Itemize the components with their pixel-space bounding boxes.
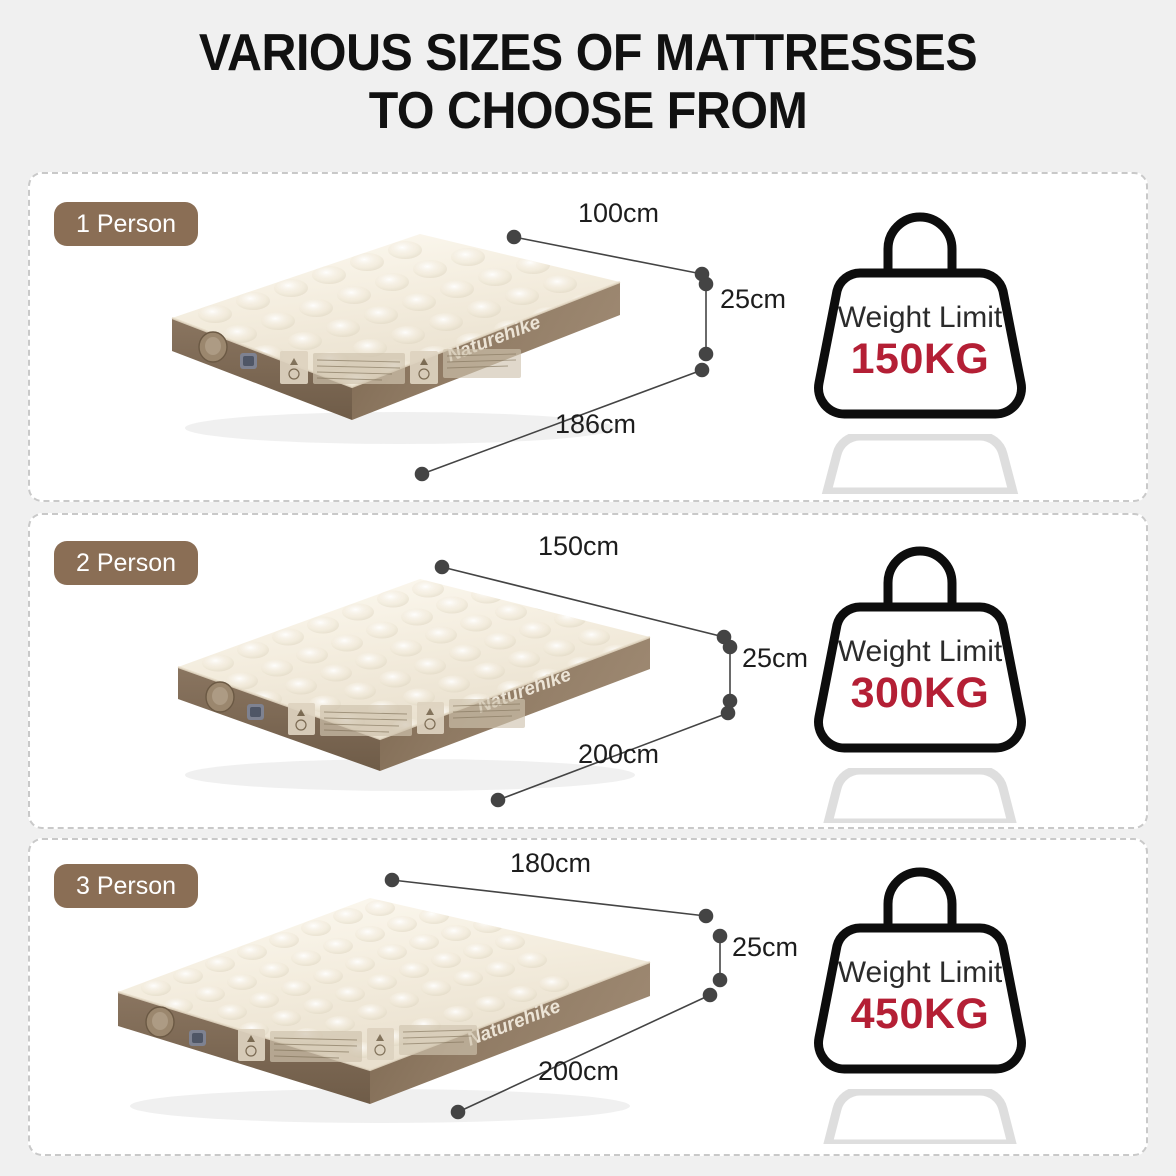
weight-bag-reflection: [800, 1089, 1040, 1144]
dimension-width-2: 150cm: [538, 531, 619, 562]
dimension-height-2: 25cm: [742, 643, 808, 674]
valve-nozzle-icon: [240, 353, 257, 369]
dimension-length-1: 186cm: [555, 409, 636, 440]
dimension-marker-icon: [700, 348, 713, 361]
dimension-height-3: 25cm: [732, 932, 798, 963]
weight-bag-reflection: [800, 434, 1040, 494]
dimension-marker-icon: [718, 631, 731, 644]
weight-limit-3: Weight Limit 450KG: [800, 864, 1040, 1144]
dimension-width-3: 180cm: [510, 848, 591, 879]
valve-nozzle-icon: [247, 704, 264, 720]
dimension-marker-icon: [714, 930, 727, 943]
size-panel-3-person: 3 Person: [28, 838, 1148, 1156]
weight-value-3: 450KG: [800, 990, 1040, 1039]
infographic-page: VARIOUS SIZES OF MATTRESSES TO CHOOSE FR…: [0, 0, 1176, 1176]
valve-icon: [206, 682, 234, 712]
weight-limit-1: Weight Limit 150KG: [800, 209, 1040, 494]
dimension-height-1: 25cm: [720, 284, 786, 315]
dimension-length-2: 200cm: [578, 739, 659, 770]
page-title: VARIOUS SIZES OF MATTRESSES TO CHOOSE FR…: [41, 24, 1135, 140]
page-title-line-2: TO CHOOSE FROM: [41, 82, 1135, 140]
air-mattress-icon: Naturehike: [70, 870, 710, 1135]
dimension-marker-icon: [700, 278, 713, 291]
size-panel-2-person: 2 Person: [28, 513, 1148, 829]
weight-value-1: 150KG: [800, 335, 1040, 384]
valve-nozzle-icon: [189, 1030, 206, 1046]
weight-bag-reflection: [800, 768, 1040, 823]
weight-title-2: Weight Limit: [800, 635, 1040, 669]
warning-label-icon: [280, 349, 521, 384]
mattress-illustration-3: Naturehike: [70, 870, 710, 1135]
weight-value-2: 300KG: [800, 669, 1040, 718]
valve-icon: [146, 1007, 174, 1037]
dimension-marker-icon: [724, 695, 737, 708]
valve-icon: [199, 332, 227, 362]
dimension-marker-icon: [724, 641, 737, 654]
dimension-width-1: 100cm: [578, 198, 659, 229]
dimension-marker-icon: [714, 974, 727, 987]
page-title-line-1: VARIOUS SIZES OF MATTRESSES: [199, 24, 977, 82]
weight-limit-2: Weight Limit 300KG: [800, 543, 1040, 823]
weight-title-3: Weight Limit: [800, 956, 1040, 990]
dimension-marker-icon: [722, 707, 735, 720]
size-panel-1-person: 1 Person: [28, 172, 1148, 502]
dimension-length-3: 200cm: [538, 1056, 619, 1087]
weight-title-1: Weight Limit: [800, 301, 1040, 335]
